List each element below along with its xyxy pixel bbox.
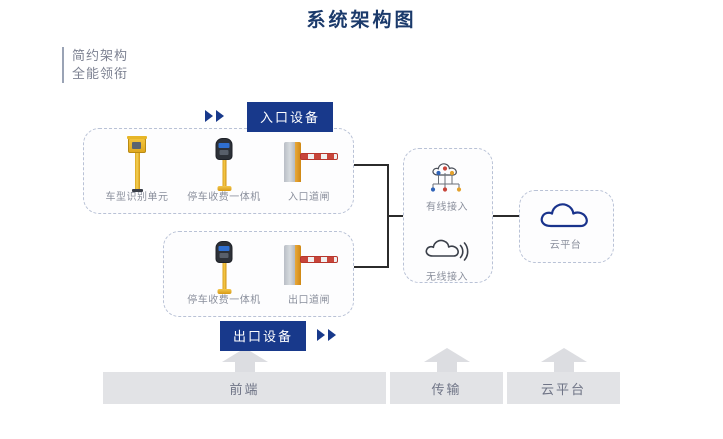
device-label: 入口道闸 [267, 188, 351, 203]
device-exit-barrier-gate[interactable]: 出口道闸 [267, 239, 351, 306]
cloud-icon [519, 196, 612, 236]
bottom-bar-front-end: 前端 [103, 372, 386, 404]
transmission-wired-access[interactable]: 有线接入 [403, 158, 491, 213]
vehicle-recognition-pole-icon [95, 136, 179, 188]
cloud-network-nodes-icon [403, 158, 491, 198]
transmission-label: 有线接入 [403, 198, 491, 213]
barrier-gate-icon [267, 239, 351, 291]
device-entrance-barrier-gate[interactable]: 入口道闸 [267, 136, 351, 203]
transmission-wireless-access[interactable]: 无线接入 [403, 228, 491, 283]
parking-payment-terminal-icon [182, 136, 266, 188]
cloud-platform-label: 云平台 [519, 236, 612, 251]
bottom-bar-cloud-platform: 云平台 [507, 372, 620, 404]
badge-exit-equipment[interactable]: 出口设备 [220, 321, 306, 351]
device-parking-payment-terminal-exit[interactable]: 停车收费一体机 [182, 239, 266, 306]
entrance-arrows-icon [205, 110, 224, 122]
bottom-bar-label: 前端 [229, 379, 259, 398]
parking-payment-terminal-icon [182, 239, 266, 291]
bottom-bar-label: 传输 [431, 379, 461, 398]
bottom-bar-transmission: 传输 [390, 372, 503, 404]
connector-trunk-to-transmission [387, 215, 404, 217]
up-arrow-icon-front-end [222, 348, 268, 372]
connector-transmission-to-cloud [491, 215, 520, 217]
architecture-diagram: 系统架构图 简约架构 全能领衔 入口设备 车型识别单元 [0, 0, 723, 439]
cloud-platform-node[interactable]: 云平台 [519, 196, 612, 251]
exit-arrows-icon [317, 329, 336, 341]
subtitle-line-1: 简约架构 [72, 47, 128, 65]
device-label: 出口道闸 [267, 291, 351, 306]
connector-entrance-to-trunk [352, 164, 388, 166]
subtitle-block: 简约架构 全能领衔 [62, 47, 128, 83]
cloud-wifi-icon [403, 228, 491, 268]
device-vehicle-recognition-unit[interactable]: 车型识别单元 [95, 136, 179, 203]
up-arrow-icon-transmission [424, 348, 470, 372]
connector-exit-to-trunk [352, 266, 388, 268]
device-parking-payment-terminal-entrance[interactable]: 停车收费一体机 [182, 136, 266, 203]
subtitle-line-2: 全能领衔 [72, 65, 128, 83]
up-arrow-icon-cloud-platform [541, 348, 587, 372]
page-title: 系统架构图 [0, 5, 723, 32]
bottom-bar-label: 云平台 [541, 379, 586, 398]
badge-entrance-equipment[interactable]: 入口设备 [247, 102, 333, 132]
barrier-gate-icon [267, 136, 351, 188]
transmission-label: 无线接入 [403, 268, 491, 283]
